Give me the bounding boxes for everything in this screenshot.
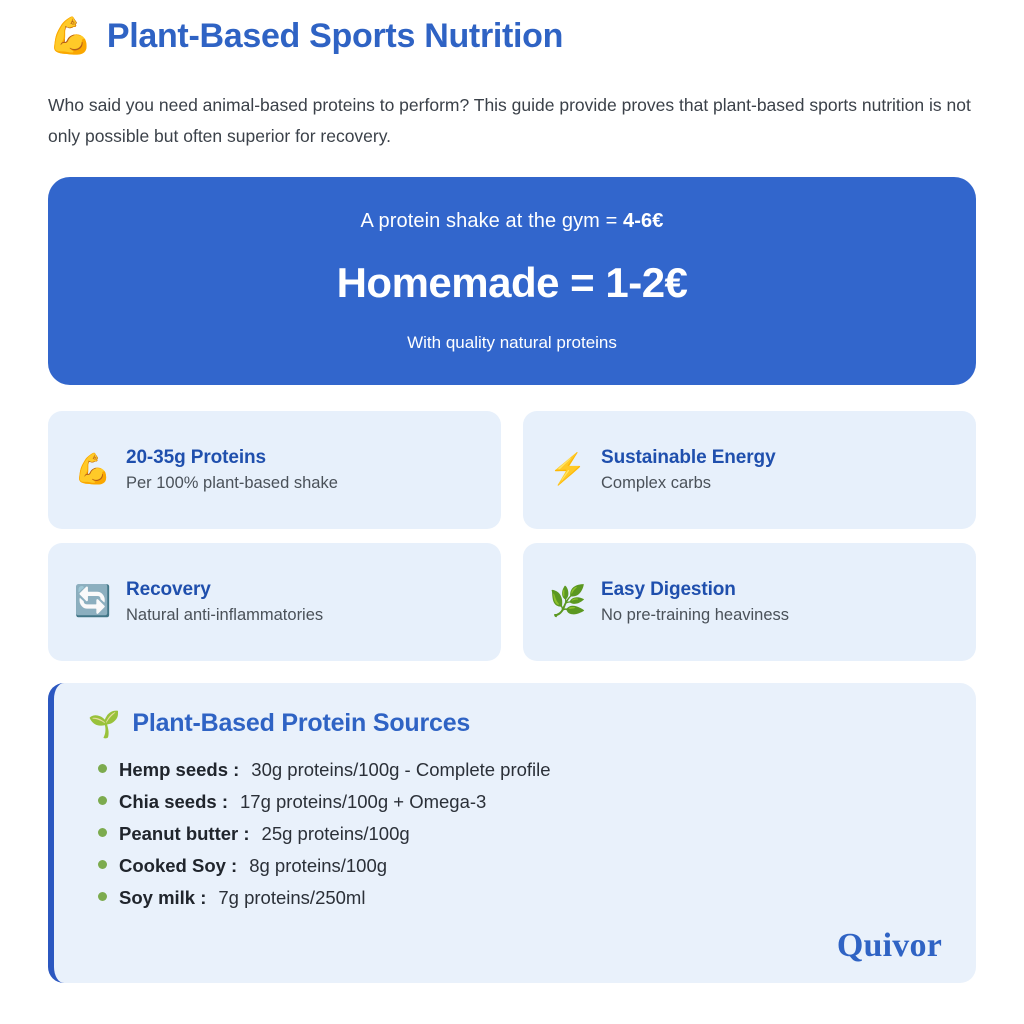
protein-sources-box: 🌱 Plant-Based Protein Sources Hemp seeds… [48, 683, 976, 983]
list-item-label: Hemp seeds : [119, 759, 239, 781]
list-item-label: Chia seeds : [119, 791, 228, 813]
list-item-label: Soy milk : [119, 887, 206, 909]
list-item-value: 7g proteins/250ml [218, 887, 365, 909]
bullet-icon [98, 828, 107, 837]
protein-sources-header: 🌱 Plant-Based Protein Sources [88, 709, 942, 738]
feature-card-subtitle: Per 100% plant-based shake [126, 474, 338, 493]
feature-card-recovery: 🔄 Recovery Natural anti-inflammatories [48, 543, 501, 661]
refresh-arrows-icon: 🔄 [74, 587, 110, 617]
feature-card-subtitle: Natural anti-inflammatories [126, 606, 323, 625]
feature-card-energy: ⚡ Sustainable Energy Complex carbs [523, 411, 976, 529]
feature-card-subtitle: No pre-training heaviness [601, 606, 789, 625]
bullet-icon [98, 764, 107, 773]
feature-card-title: Easy Digestion [601, 579, 789, 601]
feature-card-body: Easy Digestion No pre-training heaviness [601, 579, 789, 625]
protein-sources-list: Hemp seeds : 30g proteins/100g - Complet… [88, 754, 942, 914]
flexed-biceps-icon: 💪 [74, 455, 110, 485]
list-item: Chia seeds : 17g proteins/100g + Omega-3 [88, 786, 942, 818]
page-title-row: 💪 Plant-Based Sports Nutrition [48, 0, 976, 62]
lightning-bolt-icon: ⚡ [549, 455, 585, 485]
banner-caption: With quality natural proteins [407, 333, 617, 353]
page-title: Plant-Based Sports Nutrition [107, 17, 563, 56]
feature-card-subtitle: Complex carbs [601, 474, 776, 493]
bullet-icon [98, 892, 107, 901]
feature-card-digestion: 🌿 Easy Digestion No pre-training heavine… [523, 543, 976, 661]
feature-card-proteins: 💪 20-35g Proteins Per 100% plant-based s… [48, 411, 501, 529]
list-item-value: 17g proteins/100g + Omega-3 [240, 791, 486, 813]
feature-cards-grid: 💪 20-35g Proteins Per 100% plant-based s… [48, 411, 976, 661]
list-item-value: 25g proteins/100g [262, 823, 410, 845]
feature-card-body: Recovery Natural anti-inflammatories [126, 579, 323, 625]
seedling-icon: 🌱 [88, 711, 120, 737]
protein-sources-title: Plant-Based Protein Sources [132, 709, 470, 738]
list-item-label: Peanut butter : [119, 823, 250, 845]
price-comparison-banner: A protein shake at the gym = 4-6€ Homema… [48, 177, 976, 385]
list-item-label: Cooked Soy : [119, 855, 237, 877]
feature-card-body: 20-35g Proteins Per 100% plant-based sha… [126, 447, 338, 493]
feature-card-title: 20-35g Proteins [126, 447, 338, 469]
infographic-page: 💪 Plant-Based Sports Nutrition Who said … [0, 0, 1024, 1024]
banner-gym-price-line: A protein shake at the gym = 4-6€ [361, 210, 664, 233]
feature-card-title: Recovery [126, 579, 323, 601]
list-item-value: 30g proteins/100g - Complete profile [251, 759, 550, 781]
brand-logo: Quivor [837, 927, 942, 965]
list-item: Peanut butter : 25g proteins/100g [88, 818, 942, 850]
list-item: Cooked Soy : 8g proteins/100g [88, 850, 942, 882]
banner-gym-price-value: 4-6€ [623, 210, 663, 232]
bullet-icon [98, 860, 107, 869]
feature-card-body: Sustainable Energy Complex carbs [601, 447, 776, 493]
flexed-biceps-icon: 💪 [48, 18, 93, 54]
feature-card-title: Sustainable Energy [601, 447, 776, 469]
list-item: Soy milk : 7g proteins/250ml [88, 882, 942, 914]
banner-homemade-price: Homemade = 1-2€ [337, 259, 688, 307]
herb-leaf-icon: 🌿 [549, 587, 585, 617]
intro-paragraph: Who said you need animal-based proteins … [48, 90, 976, 151]
list-item: Hemp seeds : 30g proteins/100g - Complet… [88, 754, 942, 786]
bullet-icon [98, 796, 107, 805]
list-item-value: 8g proteins/100g [249, 855, 387, 877]
banner-gym-price-prefix: A protein shake at the gym = [361, 210, 624, 232]
